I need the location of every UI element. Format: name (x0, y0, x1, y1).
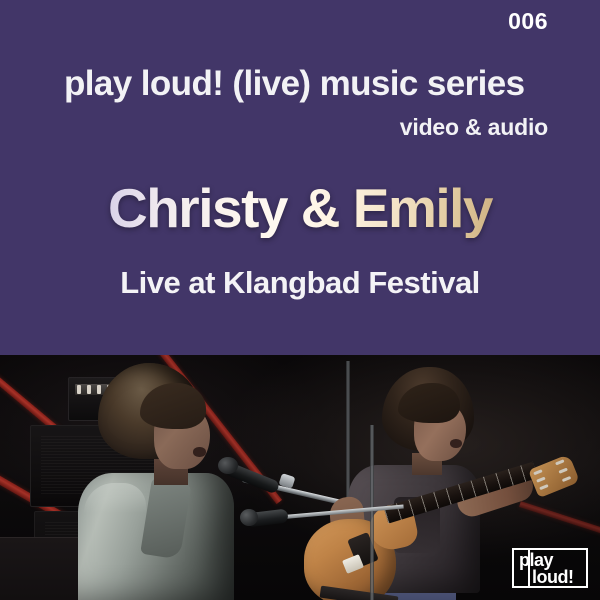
logo-line-loud: loud! (532, 568, 573, 586)
mic-head (240, 509, 258, 526)
mic-head (218, 457, 238, 474)
poster-root: 006 play loud! (live) music series video… (0, 0, 600, 600)
photo-scene (0, 355, 600, 600)
artist-name: Christy & Emily (0, 180, 600, 238)
play-loud-logo[interactable]: play loud! (512, 548, 588, 588)
performer-mouth (193, 447, 206, 457)
artist-subtitle: Live at Klangbad Festival (0, 266, 600, 300)
concert-photo (0, 355, 600, 600)
mic-stand-pole (370, 425, 374, 600)
series-title: play loud! (live) music series (64, 66, 548, 103)
performer-mouth (450, 439, 462, 448)
series-subtitle: video & audio (400, 115, 548, 140)
header-panel: 006 play loud! (live) music series video… (0, 0, 600, 355)
issue-number: 006 (508, 10, 548, 33)
microphone-right (240, 501, 310, 541)
